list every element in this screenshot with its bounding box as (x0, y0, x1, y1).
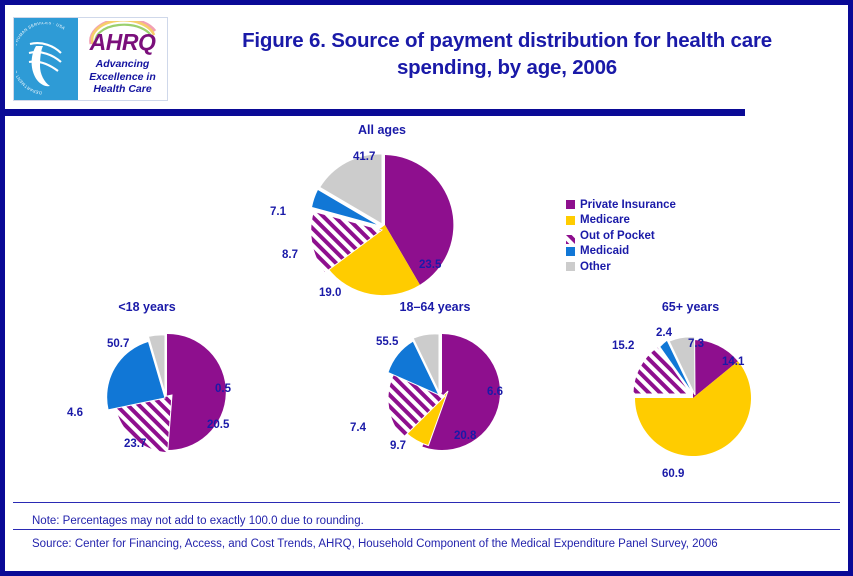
pie-svg-65-plus (619, 334, 794, 474)
ahrq-wordmark: AHRQ Advancing Excellence in Health Care (78, 18, 167, 100)
legend-item-medicare: Medicare (566, 213, 676, 229)
legend-swatch-other (566, 262, 575, 271)
hhs-eagle-icon: DEPARTMENT OF HEALTH & HUMAN SERVICES · … (16, 22, 76, 98)
value-all-ages-medicaid: 8.7 (282, 249, 298, 261)
value-65-plus-private-insurance: 14.1 (722, 356, 744, 368)
value-18-64-medicaid: 9.7 (390, 440, 406, 452)
value-under-18-other: 4.6 (67, 407, 83, 419)
figure-note: Note: Percentages may not add to exactly… (32, 515, 364, 527)
value-under-18-medicaid: 23.7 (124, 438, 146, 450)
ahrq-hhs-logo: DEPARTMENT OF HEALTH & HUMAN SERVICES · … (13, 17, 168, 101)
footer-divider-bottom (13, 529, 840, 530)
value-65-plus-medicaid: 2.4 (656, 327, 672, 339)
legend-swatch-medicare (566, 216, 575, 225)
value-all-ages-out-of-pocket: 19.0 (319, 287, 341, 299)
pie-chart-under-18: <18 years 50.7 0.5 20.5 23.7 4.6 (67, 300, 287, 470)
figure-header: DEPARTMENT OF HEALTH & HUMAN SERVICES · … (5, 5, 848, 103)
ahrq-tagline-line2: Excellence in (78, 71, 167, 84)
value-18-64-out-of-pocket: 20.8 (454, 430, 476, 442)
legend-swatch-out-of-pocket (566, 231, 575, 240)
pie-svg-all-ages (297, 151, 477, 303)
legend-swatch-private-insurance (566, 200, 575, 209)
legend-label-medicare: Medicare (580, 214, 630, 226)
value-under-18-out-of-pocket: 20.5 (207, 419, 229, 431)
value-all-ages-medicare: 23.5 (419, 259, 441, 271)
legend-label-out-of-pocket: Out of Pocket (580, 230, 655, 242)
pie-chart-all-ages: All ages 41.7 23.5 19.0 8.7 7.1 (257, 123, 507, 303)
figure-title: Figure 6. Source of payment distribution… (177, 27, 837, 81)
value-65-plus-medicare: 60.9 (662, 468, 684, 480)
header-divider (5, 109, 745, 116)
legend-item-medicaid: Medicaid (566, 244, 676, 260)
ahrq-tagline-line1: Advancing (78, 58, 167, 71)
legend-label-other: Other (580, 261, 611, 273)
chart-legend: Private Insurance Medicare Out of Pocket… (566, 197, 676, 275)
value-all-ages-private-insurance: 41.7 (353, 151, 375, 163)
value-65-plus-out-of-pocket: 15.2 (612, 340, 634, 352)
value-under-18-private-insurance: 50.7 (107, 338, 129, 350)
value-65-plus-other: 7.3 (688, 338, 704, 350)
pie-title-all-ages: All ages (257, 123, 507, 137)
figure-source: Source: Center for Financing, Access, an… (32, 538, 718, 550)
pie-chart-18-64: 18–64 years 55.5 6.6 20.8 9.7 (350, 300, 570, 470)
legend-item-private-insurance: Private Insurance (566, 197, 676, 213)
value-all-ages-other: 7.1 (270, 206, 286, 218)
legend-label-private-insurance: Private Insurance (580, 199, 676, 211)
ahrq-tagline: Advancing Excellence in Health Care (78, 58, 167, 96)
legend-swatch-medicaid (566, 247, 575, 256)
pie-title-18-64: 18–64 years (350, 300, 520, 314)
value-18-64-other: 7.4 (350, 422, 366, 434)
pie-title-65-plus: 65+ years (603, 300, 778, 314)
legend-item-other: Other (566, 259, 676, 275)
pie-title-under-18: <18 years (67, 300, 227, 314)
figure-title-line2: spending, by age, 2006 (177, 54, 837, 81)
value-18-64-medicare: 6.6 (487, 386, 503, 398)
ahrq-acronym: AHRQ (78, 29, 167, 56)
pie-chart-65-plus: 65+ years 14.1 60.9 15.2 2.4 7.3 (603, 300, 823, 485)
legend-item-out-of-pocket: Out of Pocket (566, 228, 676, 244)
value-18-64-private-insurance: 55.5 (376, 336, 398, 348)
figure-page: DEPARTMENT OF HEALTH & HUMAN SERVICES · … (0, 0, 853, 576)
ahrq-tagline-line3: Health Care (78, 83, 167, 96)
figure-title-line1: Figure 6. Source of payment distribution… (177, 27, 837, 54)
value-under-18-medicare: 0.5 (215, 383, 231, 395)
footer-divider-top (13, 502, 840, 503)
hhs-seal: DEPARTMENT OF HEALTH & HUMAN SERVICES · … (14, 18, 78, 100)
legend-label-medicaid: Medicaid (580, 245, 629, 257)
